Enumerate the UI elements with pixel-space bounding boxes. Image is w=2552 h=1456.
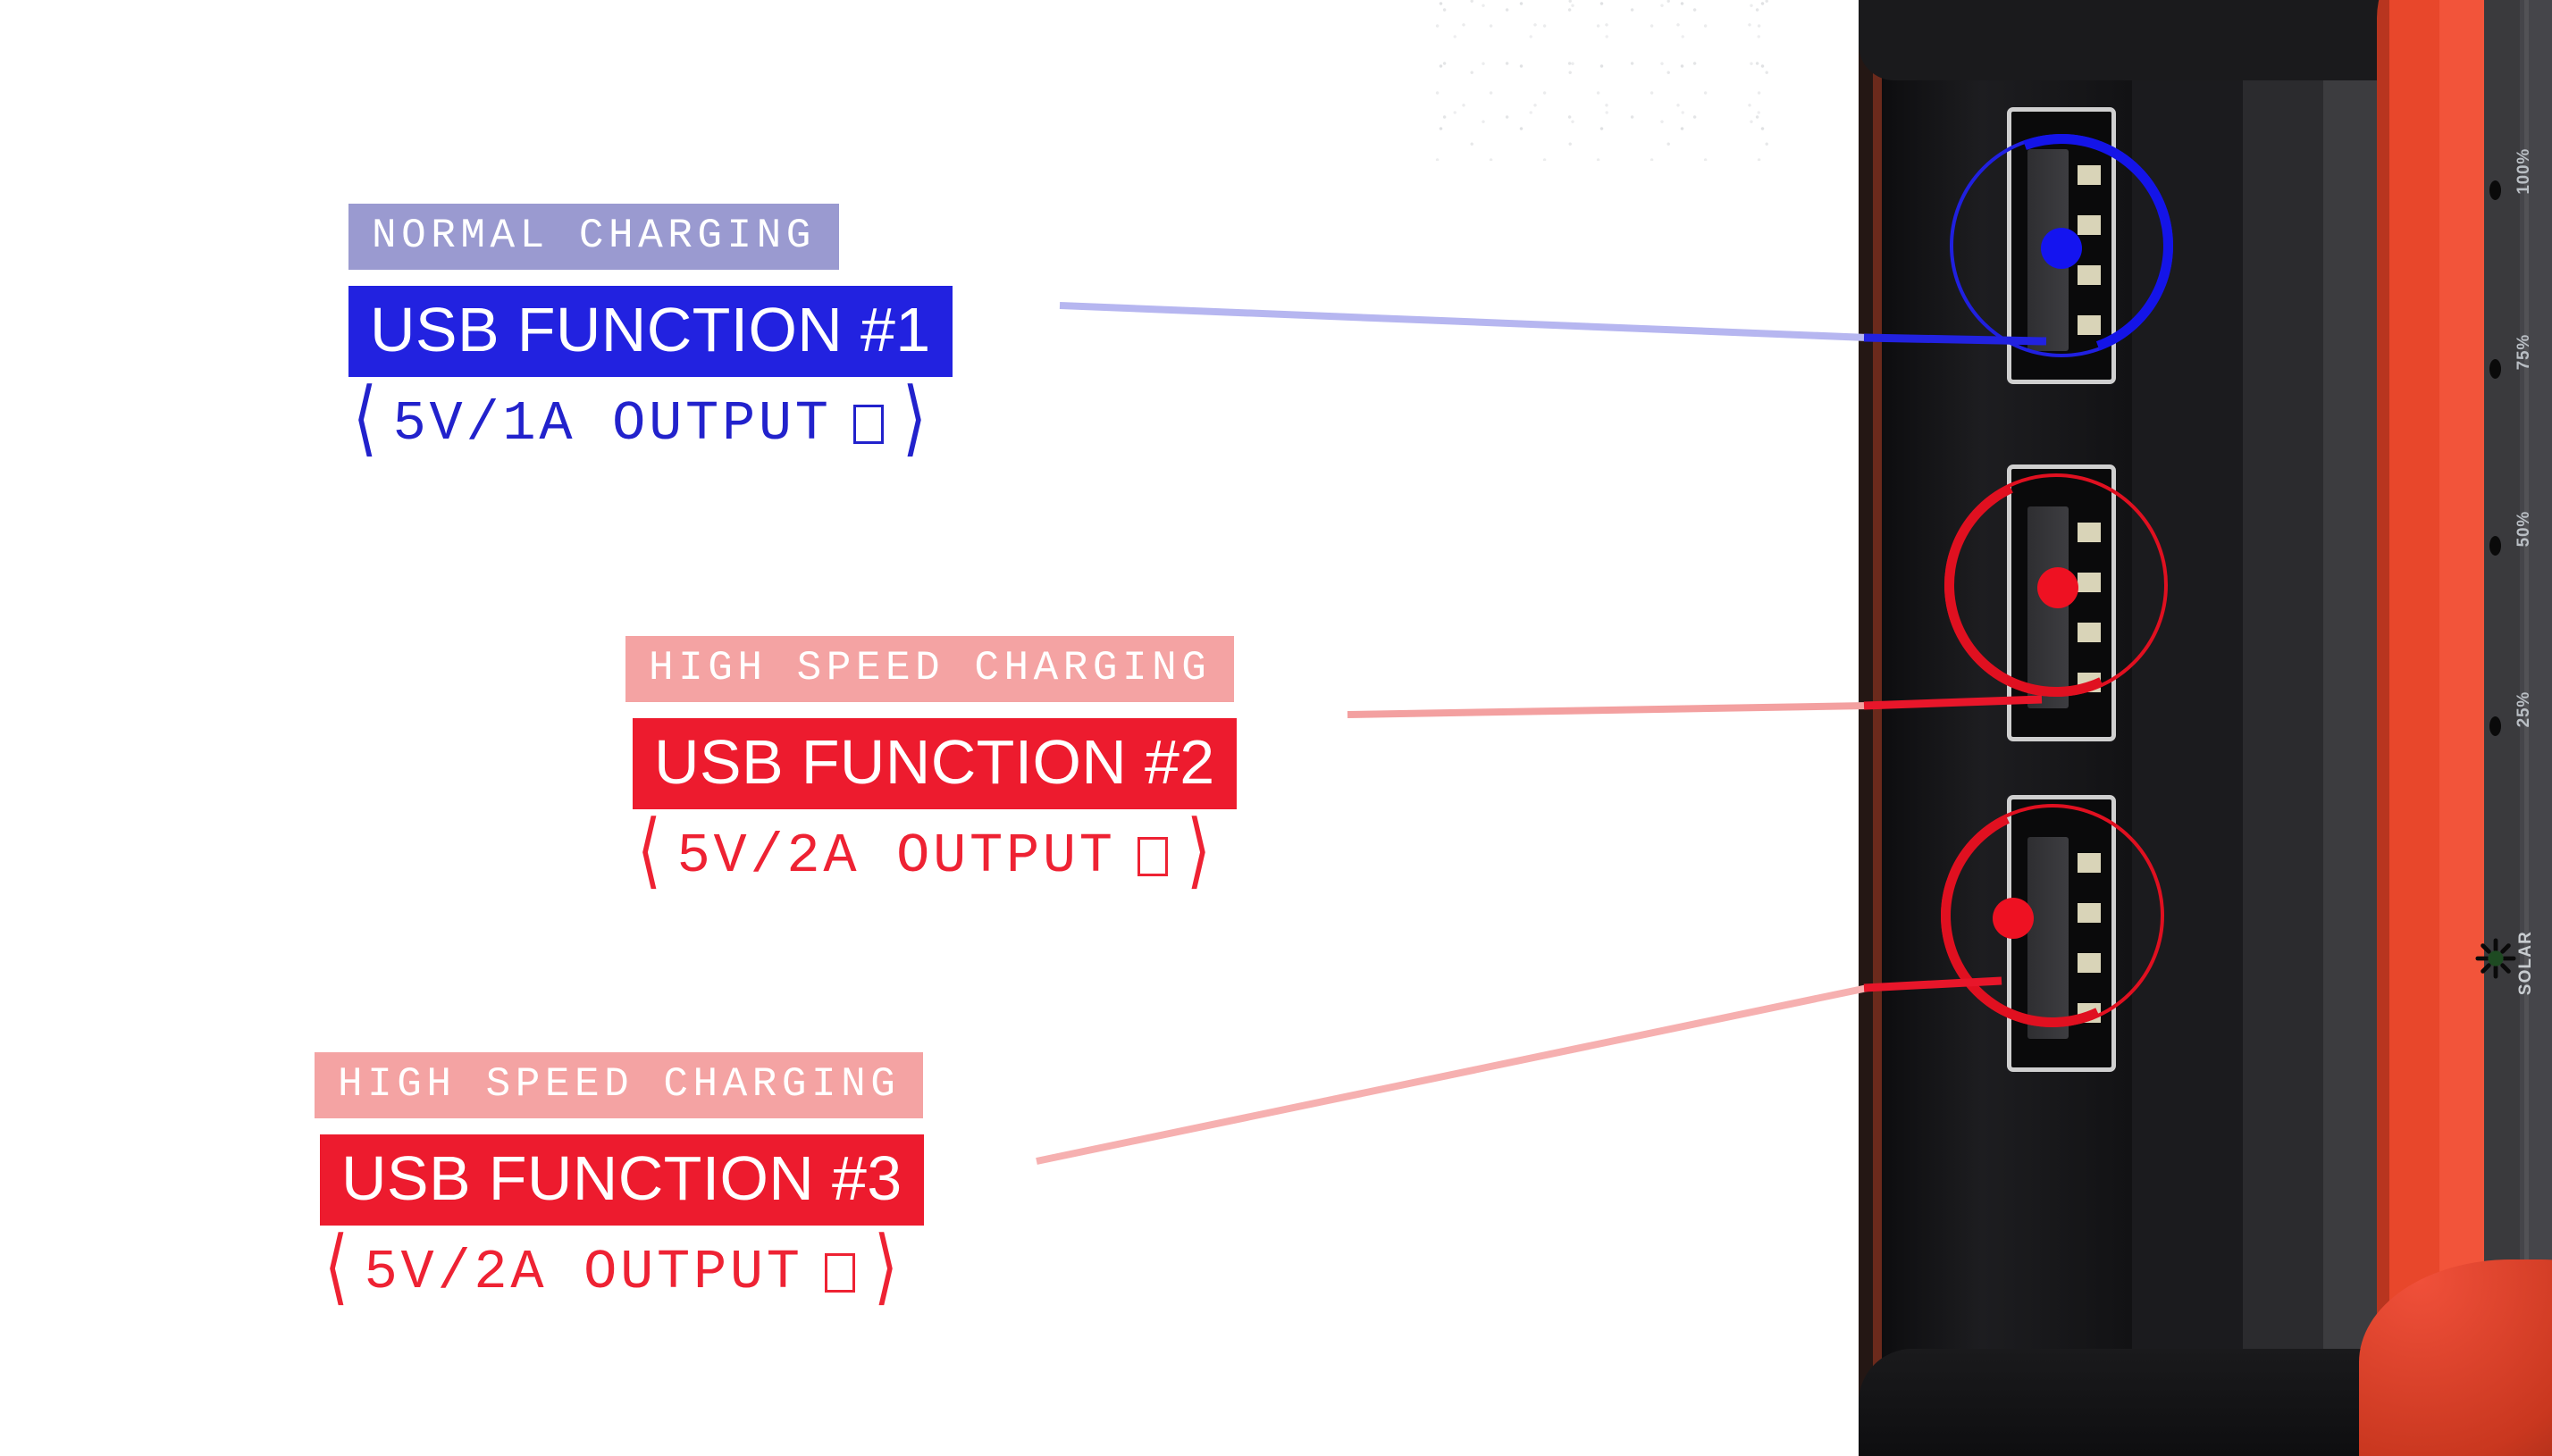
spec-missing-glyph-box bbox=[825, 1253, 855, 1293]
spec-text: 5V/1A OUTPUT bbox=[393, 397, 832, 452]
spec-open-bracket: ⟨ bbox=[324, 1240, 351, 1306]
spec-missing-glyph-box bbox=[1137, 837, 1168, 876]
callout-3-title: USB FUNCTION #3 bbox=[320, 1134, 924, 1226]
callout-1-kicker: NORMAL CHARGING bbox=[348, 204, 839, 270]
callout-usb-function-1: NORMAL CHARGING USB FUNCTION #1 ⟨ 5V/1A … bbox=[348, 204, 953, 457]
callout-2-spec: ⟨ 5V/2A OUTPUT ⟩ bbox=[633, 824, 1237, 890]
leader-line-1a bbox=[1060, 305, 1868, 338]
screenshot-canvas: 100% 75% 50% 25% SOLAR bbox=[0, 0, 2552, 1429]
spec-open-bracket: ⟨ bbox=[353, 391, 380, 457]
callout-1-spec: ⟨ 5V/1A OUTPUT ⟩ bbox=[348, 391, 953, 457]
callout-3-kicker: HIGH SPEED CHARGING bbox=[315, 1052, 923, 1118]
callout-2-kicker: HIGH SPEED CHARGING bbox=[625, 636, 1234, 702]
spec-close-bracket: ⟩ bbox=[1187, 824, 1213, 890]
leader-line-2b bbox=[1864, 699, 2042, 706]
spec-text: 5V/2A OUTPUT bbox=[365, 1245, 803, 1301]
leader-line-3b bbox=[1864, 981, 2002, 988]
spec-missing-glyph-box bbox=[853, 405, 884, 444]
spec-close-bracket: ⟩ bbox=[902, 391, 929, 457]
callout-1-title: USB FUNCTION #1 bbox=[348, 286, 953, 377]
leader-line-1b bbox=[1864, 338, 2046, 341]
callout-usb-function-2: HIGH SPEED CHARGING USB FUNCTION #2 ⟨ 5V… bbox=[625, 636, 1237, 890]
leader-line-3a bbox=[1037, 988, 1868, 1161]
leader-line-2a bbox=[1347, 706, 1868, 715]
spec-close-bracket: ⟩ bbox=[874, 1240, 901, 1306]
spec-open-bracket: ⟨ bbox=[637, 824, 664, 890]
callout-2-title: USB FUNCTION #2 bbox=[633, 718, 1237, 809]
spec-text: 5V/2A OUTPUT bbox=[677, 829, 1116, 884]
callout-3-spec: ⟨ 5V/2A OUTPUT ⟩ bbox=[320, 1240, 924, 1306]
callout-usb-function-3: HIGH SPEED CHARGING USB FUNCTION #3 ⟨ 5V… bbox=[315, 1052, 924, 1306]
